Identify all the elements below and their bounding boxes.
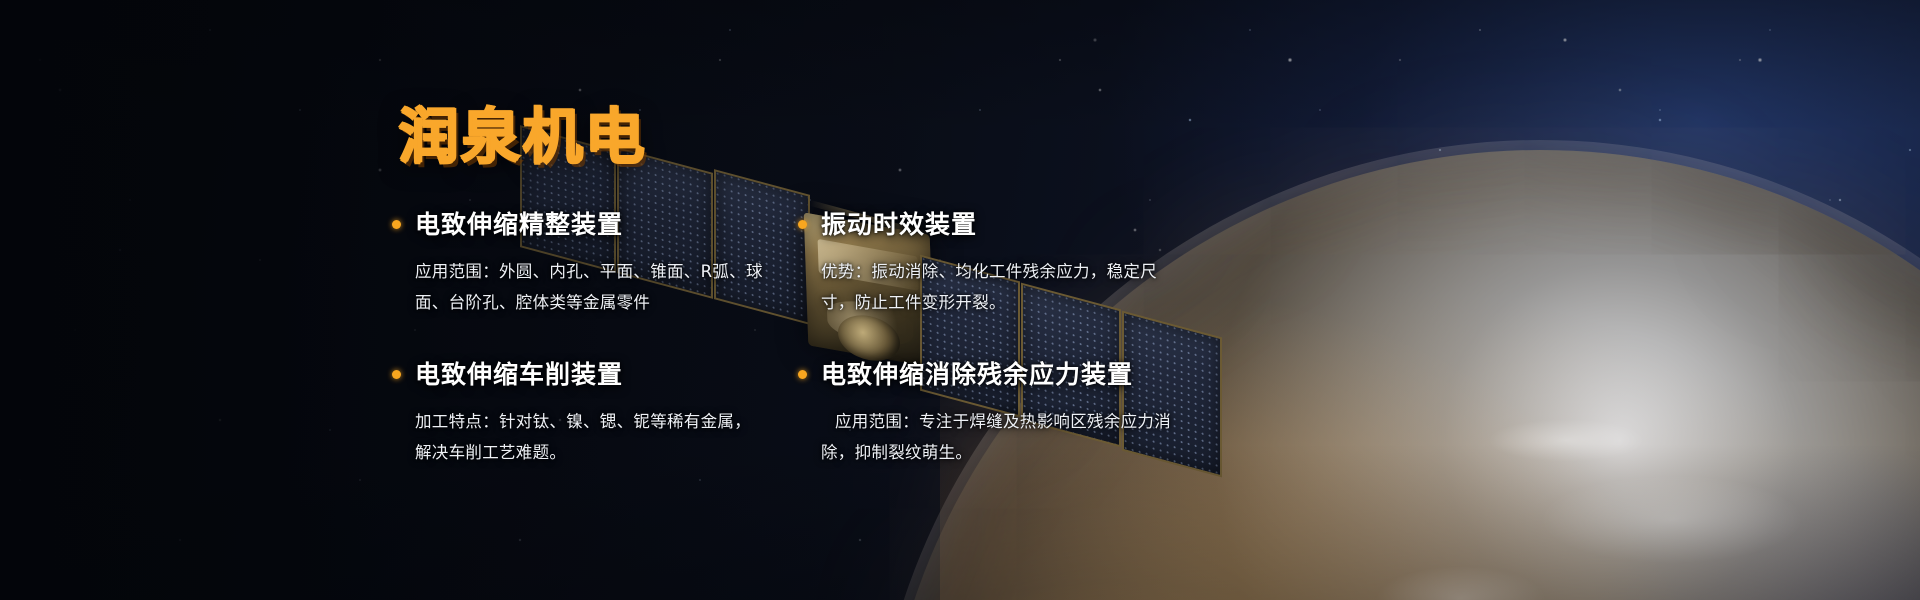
feature-card-3[interactable]: 电致伸缩车削装置 加工特点：针对钛、镍、锶、铌等稀有金属，解决车削工艺难题。 — [392, 355, 812, 468]
brand-title: 润泉机电 — [398, 88, 646, 175]
feature-1-description: 应用范围：外圆、内孔、平面、锥面、R弧、球面、台阶孔、腔体类等金属零件 — [415, 257, 767, 318]
bullet-dot-icon — [392, 220, 401, 229]
feature-1-title: 电致伸缩精整装置 — [415, 205, 623, 241]
feature-3-heading: 电致伸缩车削装置 — [392, 355, 812, 391]
bullet-dot-icon — [392, 370, 401, 379]
feature-3-description: 加工特点：针对钛、镍、锶、铌等稀有金属，解决车削工艺难题。 — [415, 407, 767, 468]
feature-4-description: 应用范围：专注于焊缝及热影响区残余应力消除，抑制裂纹萌生。 — [821, 407, 1189, 468]
bullet-dot-icon — [798, 370, 807, 379]
feature-2-description: 优势：振动消除、均化工件残余应力，稳定尺寸，防止工件变形开裂。 — [821, 257, 1189, 318]
hero-banner: 润泉机电 电致伸缩精整装置 应用范围：外圆、内孔、平面、锥面、R弧、球面、台阶孔… — [0, 0, 1920, 600]
feature-3-title: 电致伸缩车削装置 — [415, 355, 623, 391]
feature-4-title: 电致伸缩消除残余应力装置 — [821, 355, 1133, 391]
feature-card-1[interactable]: 电致伸缩精整装置 应用范围：外圆、内孔、平面、锥面、R弧、球面、台阶孔、腔体类等… — [392, 205, 812, 318]
feature-card-4[interactable]: 电致伸缩消除残余应力装置 应用范围：专注于焊缝及热影响区残余应力消除，抑制裂纹萌… — [798, 355, 1218, 468]
feature-4-heading: 电致伸缩消除残余应力装置 — [798, 355, 1218, 391]
feature-2-heading: 振动时效装置 — [798, 205, 1218, 241]
feature-card-2[interactable]: 振动时效装置 优势：振动消除、均化工件残余应力，稳定尺寸，防止工件变形开裂。 — [798, 205, 1218, 318]
feature-2-title: 振动时效装置 — [821, 205, 977, 241]
feature-1-heading: 电致伸缩精整装置 — [392, 205, 812, 241]
banner-content: 润泉机电 电致伸缩精整装置 应用范围：外圆、内孔、平面、锥面、R弧、球面、台阶孔… — [0, 0, 1920, 600]
bullet-dot-icon — [798, 220, 807, 229]
